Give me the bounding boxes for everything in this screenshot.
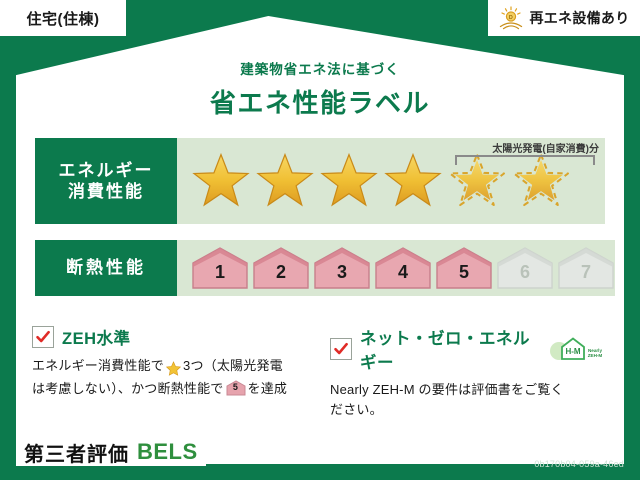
insulation-badge-group: 1234567 <box>177 246 615 290</box>
insulation-badge-active: 5 <box>435 246 493 290</box>
inline-insulation-badge: 5 <box>226 380 246 396</box>
insulation-label-text: 断熱性能 <box>66 257 146 278</box>
insulation-badge-value: 4 <box>398 262 408 290</box>
zeh-text-part3: は考慮しない）、かつ断熱性能で <box>32 381 224 396</box>
title-block: 建築物省エネ法に基づく 省エネ性能ラベル <box>0 58 640 120</box>
insulation-badge-value: 1 <box>215 262 225 290</box>
bels-en-text: BELS <box>137 439 198 465</box>
zeh-title: ZEH水準 <box>62 325 131 349</box>
insulation-badge-inactive: 7 <box>557 246 615 290</box>
label-footer: 第三者評価 BELS ボン・メゾン東福山 評価日 2024年11月14日 0b1… <box>0 428 640 480</box>
star-icon-filled <box>255 152 315 210</box>
dwelling-type-tab: 住宅(住棟) <box>0 0 126 36</box>
net-zero-energy-block: ネット・ゼロ・エネルギー H-M Nearly ZEH-M Nearly ZEH… <box>330 325 608 420</box>
bels-certification-box: 第三者評価 BELS <box>16 438 206 466</box>
insulation-badge-inactive: 6 <box>496 246 554 290</box>
insulation-badge-active: 1 <box>191 246 249 290</box>
inline-star-icon <box>165 361 182 376</box>
zeh-text-part4: を達成 <box>248 381 288 396</box>
insulation-performance-label-box: 断熱性能 <box>35 240 177 296</box>
zeh-standard-block: ZEH水準 エネルギー消費性能で3つ（太陽光発電 は考慮しない）、かつ断熱性能で… <box>32 325 322 399</box>
renewable-equipment-text: 再エネ設備あり <box>529 8 629 28</box>
insulation-badge-value: 7 <box>581 262 591 290</box>
zeh-text-part1: エネルギー消費性能で <box>32 358 164 373</box>
bels-jp-text: 第三者評価 <box>24 438 129 467</box>
label-subtitle: 建築物省エネ法に基づく <box>0 58 640 78</box>
insulation-badge-active: 2 <box>252 246 310 290</box>
solar-bracket <box>455 155 595 165</box>
energy-performance-label: 住宅(住棟) D 再エネ設備あり 建築物省エネ法に基づく 省エネ性能ラベ <box>0 0 640 480</box>
nze-text-line2: ださい。 <box>330 402 383 417</box>
zeh-description: エネルギー消費性能で3つ（太陽光発電 は考慮しない）、かつ断熱性能で5を達成 <box>32 356 322 399</box>
svg-text:H-M: H-M <box>565 347 580 356</box>
building-name: ボン・メゾン東福山 <box>205 442 345 463</box>
energy-label-line1: エネルギー <box>59 160 154 181</box>
zeh-text-part2: 3つ（太陽光発電 <box>183 358 283 373</box>
zeh-checkbox <box>32 326 54 348</box>
insulation-rating-panel: 1234567 <box>177 240 615 296</box>
insulation-badge-value: 5 <box>459 262 469 290</box>
svg-text:D: D <box>509 15 513 21</box>
energy-performance-row: エネルギー 消費性能 太陽光発電(自家消費)分 <box>35 138 605 224</box>
nze-heading: ネット・ゼロ・エネルギー H-M Nearly ZEH-M <box>330 325 608 373</box>
sun-icon: D <box>498 6 524 30</box>
insulation-badge-value: 2 <box>276 262 286 290</box>
solar-caption: 太陽光発電(自家消費)分 <box>492 140 599 155</box>
page-title: 省エネ性能ラベル <box>0 83 640 120</box>
insulation-badge-value: 6 <box>520 262 530 290</box>
evaluation-date: 評価日 2024年11月14日 <box>476 434 624 454</box>
energy-performance-label-box: エネルギー 消費性能 <box>35 138 177 224</box>
renewable-equipment-tab: D 再エネ設備あり <box>488 0 640 36</box>
star-icon-filled <box>383 152 443 210</box>
insulation-badge-active: 3 <box>313 246 371 290</box>
evaluation-id: 0b170b04-059a-46ed <box>534 459 624 469</box>
inline-badge-value: 5 <box>226 381 246 395</box>
insulation-performance-row: 断熱性能 1234567 <box>35 240 605 296</box>
nze-title: ネット・ゼロ・エネルギー <box>360 325 540 373</box>
star-icon-filled <box>191 152 251 210</box>
energy-rating-panel: 太陽光発電(自家消費)分 <box>177 138 605 224</box>
energy-label-line2: 消費性能 <box>68 181 144 202</box>
zeh-m-logo-icon: H-M Nearly ZEH-M <box>548 335 608 363</box>
nze-description: Nearly ZEH-M の要件は評価書をご覧く ださい。 <box>330 380 608 420</box>
insulation-badge-value: 3 <box>337 262 347 290</box>
zeh-heading: ZEH水準 <box>32 325 322 349</box>
nze-text-line1: Nearly ZEH-M の要件は評価書をご覧く <box>330 382 564 397</box>
nze-checkbox <box>330 338 352 360</box>
star-icon-filled <box>319 152 379 210</box>
insulation-badge-active: 4 <box>374 246 432 290</box>
dwelling-type-text: 住宅(住棟) <box>27 8 100 29</box>
svg-text:ZEH-M: ZEH-M <box>588 353 603 358</box>
